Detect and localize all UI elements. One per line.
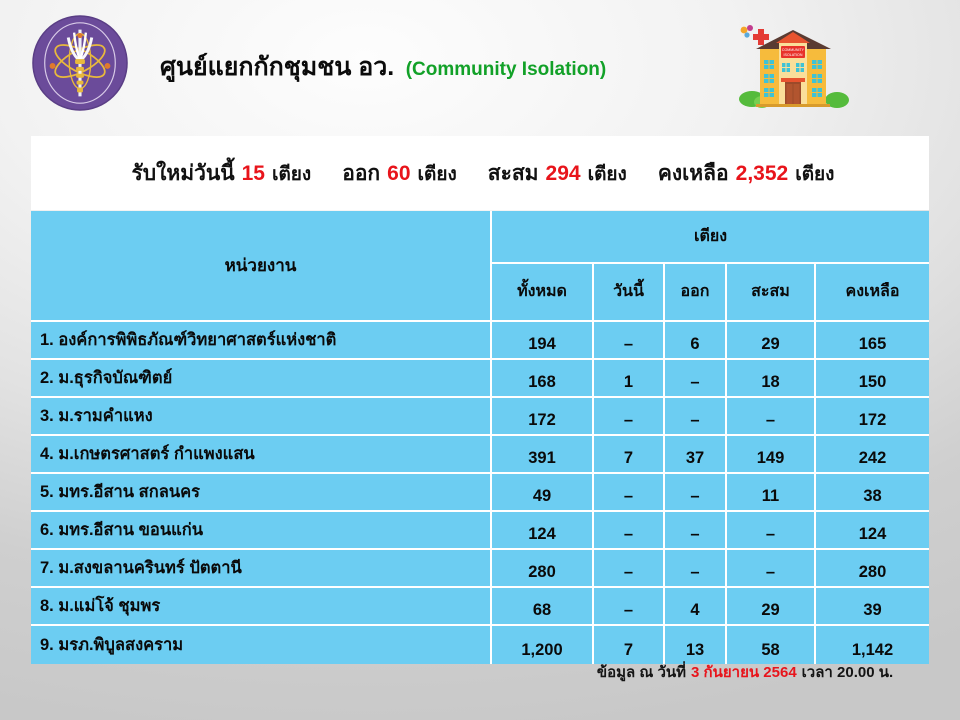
cell-cumulative: 149: [727, 436, 816, 474]
table-body: 1. องค์การพิพิธภัณฑ์วิทยาศาสตร์แห่งชาติ …: [31, 322, 929, 664]
cell-today: –: [594, 588, 665, 626]
table-row: 7. ม.สงขลานครินทร์ ปัตตานี 280 – – – 280: [31, 550, 929, 588]
page-title-thai: ศูนย์แยกกักชุมชน อว.: [160, 53, 394, 81]
table-row: 4. ม.เกษตรศาสตร์ กำแพงแสน 391 7 37 149 2…: [31, 436, 929, 474]
cell-today: –: [594, 512, 665, 550]
summary-item-new-today: รับใหม่วันนี้ 15 เตียง: [132, 157, 312, 190]
summary-item-discharged: ออก 60 เตียง: [342, 157, 457, 190]
cell-organization: 4. ม.เกษตรศาสตร์ กำแพงแสน: [31, 436, 492, 474]
summary-item-cumulative: สะสม 294 เตียง: [488, 157, 627, 190]
cell-organization: 2. ม.ธุรกิจบัณฑิตย์: [31, 360, 492, 398]
cell-total: 68: [492, 588, 594, 626]
summary-value: 15: [242, 162, 265, 186]
timestamp-date: 3 กันยายน 2564: [691, 664, 797, 681]
cell-organization: 1. องค์การพิพิธภัณฑ์วิทยาศาสตร์แห่งชาติ: [31, 322, 492, 360]
cell-today: –: [594, 398, 665, 436]
cell-out: –: [665, 360, 727, 398]
cell-remaining: 1,142: [816, 626, 929, 664]
cell-organization: 7. ม.สงขลานครินทร์ ปัตตานี: [31, 550, 492, 588]
cell-out: 13: [665, 626, 727, 664]
cell-cumulative: 58: [727, 626, 816, 664]
cell-total: 280: [492, 550, 594, 588]
table-row: 8. ม.แม่โจ้ ชุมพร 68 – 4 29 39: [31, 588, 929, 626]
mhesi-seal-logo: [31, 14, 129, 112]
column-header-organization: หน่วยงาน: [31, 211, 492, 322]
cell-cumulative: –: [727, 398, 816, 436]
cell-remaining: 280: [816, 550, 929, 588]
community-isolation-building-icon: COMMUNITY ISOLATION: [736, 16, 850, 116]
cell-remaining: 150: [816, 360, 929, 398]
cell-remaining: 39: [816, 588, 929, 626]
summary-value: 60: [387, 162, 410, 186]
column-header-cumulative: สะสม: [727, 264, 816, 322]
page-header: ศูนย์แยกกักชุมชน อว. (Community Isolatio…: [0, 0, 960, 126]
column-header-total: ทั้งหมด: [492, 264, 594, 322]
cell-cumulative: 11: [727, 474, 816, 512]
summary-label: สะสม: [488, 157, 539, 190]
cell-remaining: 172: [816, 398, 929, 436]
cell-cumulative: 29: [727, 588, 816, 626]
cell-cumulative: –: [727, 512, 816, 550]
summary-unit: เตียง: [795, 159, 834, 189]
timestamp-suffix: เวลา 20.00 น.: [802, 664, 893, 681]
cell-total: 124: [492, 512, 594, 550]
red-cross-icon: [741, 25, 769, 45]
summary-unit: เตียง: [418, 159, 457, 189]
cell-organization: 6. มทร.อีสาน ขอนแก่น: [31, 512, 492, 550]
table-header: หน่วยงาน เตียง ทั้งหมด วันนี้ ออก สะสม ค…: [31, 211, 929, 322]
cell-today: 7: [594, 436, 665, 474]
cell-out: 4: [665, 588, 727, 626]
cell-today: 7: [594, 626, 665, 664]
table-row: 3. ม.รามคำแหง 172 – – – 172: [31, 398, 929, 436]
cell-cumulative: –: [727, 550, 816, 588]
summary-unit: เตียง: [272, 159, 311, 189]
cell-today: 1: [594, 360, 665, 398]
cell-organization: 3. ม.รามคำแหง: [31, 398, 492, 436]
cell-out: 37: [665, 436, 727, 474]
cell-total: 168: [492, 360, 594, 398]
summary-label: รับใหม่วันนี้: [132, 157, 235, 190]
cell-remaining: 242: [816, 436, 929, 474]
cell-cumulative: 18: [727, 360, 816, 398]
table-header-row-1: หน่วยงาน เตียง: [31, 211, 929, 264]
summary-row: รับใหม่วันนี้ 15 เตียง ออก 60 เตียง สะสม…: [126, 157, 835, 190]
cell-today: –: [594, 550, 665, 588]
cell-total: 391: [492, 436, 594, 474]
summary-value: 294: [546, 162, 581, 186]
column-header-today: วันนี้: [594, 264, 665, 322]
column-header-out: ออก: [665, 264, 727, 322]
cell-total: 172: [492, 398, 594, 436]
cell-remaining: 165: [816, 322, 929, 360]
table-row: 2. ม.ธุรกิจบัณฑิตย์ 168 1 – 18 150: [31, 360, 929, 398]
page-title: ศูนย์แยกกักชุมชน อว. (Community Isolatio…: [160, 47, 740, 87]
cell-organization: 5. มทร.อีสาน สกลนคร: [31, 474, 492, 512]
cell-today: –: [594, 474, 665, 512]
summary-unit: เตียง: [588, 159, 627, 189]
summary-panel: รับใหม่วันนี้ 15 เตียง ออก 60 เตียง สะสม…: [31, 136, 929, 210]
page-title-english: (Community Isolation): [406, 59, 607, 80]
svg-text:COMMUNITY: COMMUNITY: [782, 48, 805, 52]
cell-total: 49: [492, 474, 594, 512]
summary-label: ออก: [342, 157, 380, 190]
summary-label: คงเหลือ: [658, 157, 729, 190]
table-row: 9. มรภ.พิบูลสงคราม 1,200 7 13 58 1,142: [31, 626, 929, 664]
cell-remaining: 38: [816, 474, 929, 512]
cell-today: –: [594, 322, 665, 360]
data-timestamp-note: ข้อมูล ณ วันที่3 กันยายน 2564เวลา 20.00 …: [560, 660, 930, 684]
cell-organization: 9. มรภ.พิบูลสงคราม: [31, 626, 492, 664]
cell-remaining: 124: [816, 512, 929, 550]
cell-out: –: [665, 512, 727, 550]
cell-out: –: [665, 398, 727, 436]
column-header-remaining: คงเหลือ: [816, 264, 929, 322]
cell-organization: 8. ม.แม่โจ้ ชุมพร: [31, 588, 492, 626]
cell-out: –: [665, 550, 727, 588]
timestamp-prefix: ข้อมูล ณ วันที่: [597, 664, 686, 681]
summary-value: 2,352: [736, 162, 789, 186]
table-row: 1. องค์การพิพิธภัณฑ์วิทยาศาสตร์แห่งชาติ …: [31, 322, 929, 360]
table-row: 5. มทร.อีสาน สกลนคร 49 – – 11 38: [31, 474, 929, 512]
cell-out: 6: [665, 322, 727, 360]
cell-out: –: [665, 474, 727, 512]
bed-capacity-table: หน่วยงาน เตียง ทั้งหมด วันนี้ ออก สะสม ค…: [31, 211, 929, 664]
summary-item-remaining: คงเหลือ 2,352 เตียง: [658, 157, 835, 190]
cell-total: 1,200: [492, 626, 594, 664]
svg-text:ISOLATION: ISOLATION: [784, 53, 803, 57]
cell-cumulative: 29: [727, 322, 816, 360]
column-header-bed-group: เตียง: [492, 211, 929, 264]
cell-total: 194: [492, 322, 594, 360]
table-row: 6. มทร.อีสาน ขอนแก่น 124 – – – 124: [31, 512, 929, 550]
